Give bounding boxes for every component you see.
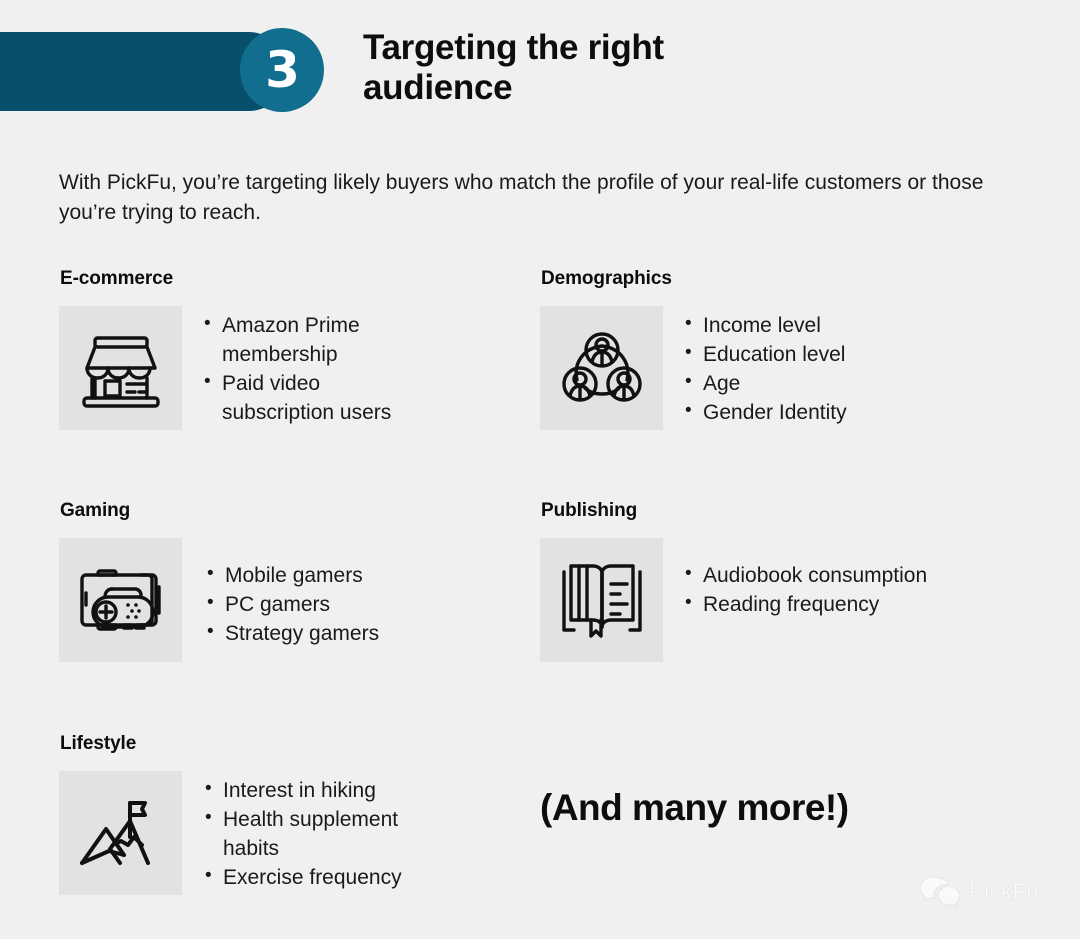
category-title-lifestyle: Lifestyle: [60, 733, 455, 755]
list-item: Age: [685, 370, 935, 399]
category-items-gaming: Mobile gamers PC gamers Strategy gamers: [207, 562, 457, 649]
category-items-ecommerce: Amazon Prime membership Paid video subsc…: [204, 312, 414, 428]
list-item: Audiobook consumption: [685, 562, 935, 591]
mobile-gamepad-icon-tile: [59, 538, 182, 662]
category-block-demographics: Demographics: [540, 268, 935, 430]
category-body-publishing: Audiobook consumption Reading frequency: [540, 538, 935, 662]
step-number-label: 3: [265, 45, 299, 95]
list-item: PC gamers: [207, 591, 457, 620]
list-item: Education level: [685, 341, 935, 370]
watermark: PickFu: [918, 875, 1039, 909]
page-title: Targeting the right audience: [363, 28, 793, 107]
mountain-flag-icon-tile: [59, 771, 182, 895]
category-body-ecommerce: Amazon Prime membership Paid video subsc…: [59, 306, 414, 430]
list-item: Amazon Prime membership: [204, 312, 414, 370]
category-title-gaming: Gaming: [60, 500, 457, 522]
step-number-badge: 3: [240, 28, 324, 112]
category-items-publishing: Audiobook consumption Reading frequency: [685, 562, 935, 620]
mountain-flag-icon: [76, 793, 166, 873]
open-book-icon-tile: [540, 538, 663, 662]
open-book-icon: [558, 558, 646, 642]
category-body-demographics: Income level Education level Age Gender …: [540, 306, 935, 430]
category-items-lifestyle: Interest in hiking Health supplement hab…: [205, 777, 455, 893]
list-item: Reading frequency: [685, 591, 935, 620]
category-body-lifestyle: Interest in hiking Health supplement hab…: [59, 771, 455, 895]
category-block-publishing: Publishing A: [540, 500, 935, 662]
people-group-icon-tile: [540, 306, 663, 430]
category-items-demographics: Income level Education level Age Gender …: [685, 312, 935, 428]
category-title-publishing: Publishing: [541, 500, 935, 522]
category-title-demographics: Demographics: [541, 268, 935, 290]
list-item: Paid video subscription users: [204, 370, 414, 428]
and-many-more-callout: (And many more!): [540, 787, 849, 829]
category-title-ecommerce: E-commerce: [60, 268, 414, 290]
list-item: Health supplement habits: [205, 806, 455, 864]
people-group-icon: [560, 328, 644, 408]
wechat-bubbles-icon: [918, 875, 962, 909]
list-item: Strategy gamers: [207, 620, 457, 649]
list-item: Income level: [685, 312, 935, 341]
mobile-gamepad-icon: [75, 563, 167, 637]
watermark-label: PickFu: [969, 879, 1039, 905]
category-block-ecommerce: E-commerce: [59, 268, 414, 430]
intro-paragraph: With PickFu, you’re targeting likely buy…: [59, 168, 1019, 228]
storefront-icon: [75, 326, 167, 410]
list-item: Interest in hiking: [205, 777, 455, 806]
category-block-gaming: Gaming: [59, 500, 457, 662]
list-item: Gender Identity: [685, 399, 935, 428]
list-item: Mobile gamers: [207, 562, 457, 591]
storefront-icon-tile: [59, 306, 182, 430]
list-item: Exercise frequency: [205, 864, 455, 893]
page-header: 3 Targeting the right audience: [0, 0, 1080, 130]
category-block-lifestyle: Lifestyle Interest in hiking Health supp…: [59, 733, 455, 895]
category-body-gaming: Mobile gamers PC gamers Strategy gamers: [59, 538, 457, 662]
